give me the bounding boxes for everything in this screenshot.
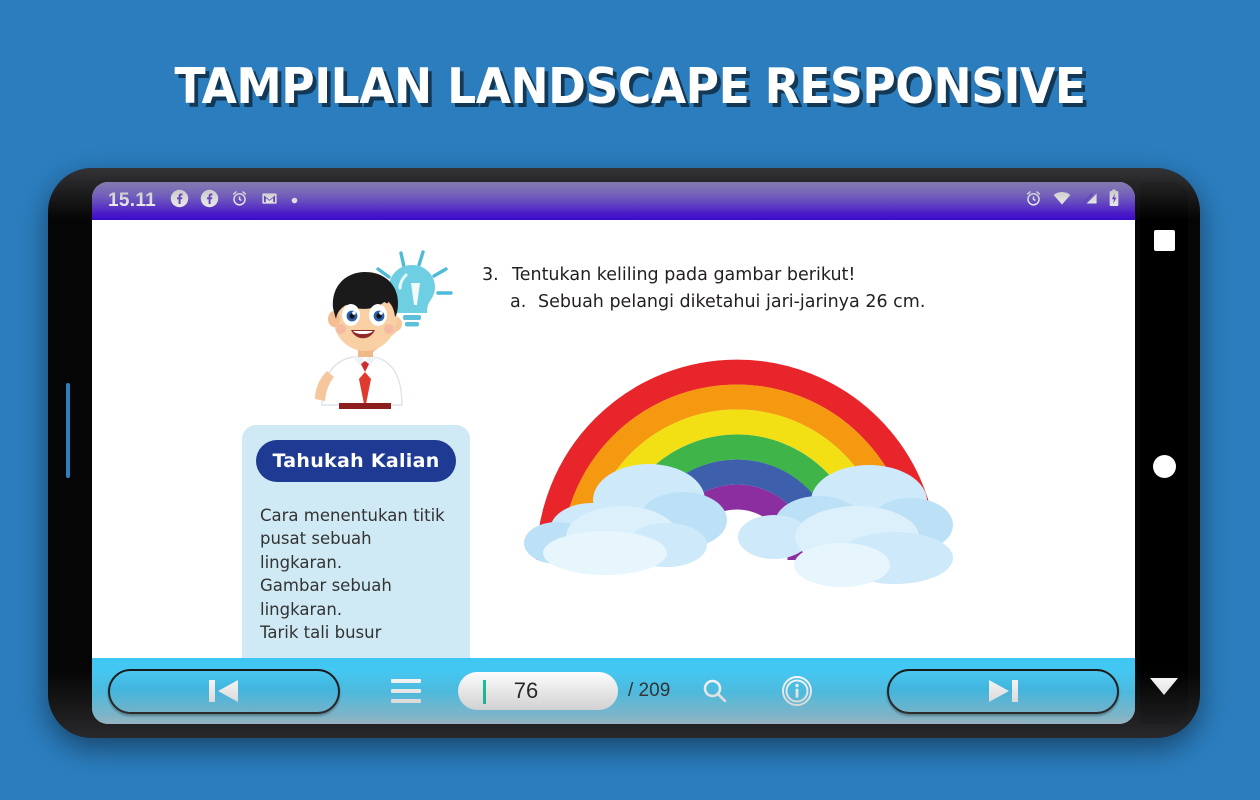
text-caret <box>483 680 486 704</box>
gmail-icon <box>260 189 279 213</box>
facebook-icon <box>170 189 189 213</box>
menu-bar-1 <box>391 679 421 683</box>
signal-icon <box>1081 189 1098 213</box>
question-sub-text: Sebuah pelangi diketahui jari-jarinya 26… <box>538 289 925 316</box>
next-page-button[interactable] <box>887 669 1119 714</box>
phone-device-frame: 15.11 <box>48 168 1200 738</box>
question-text: Tentukan keliling pada gambar berikut! <box>512 262 855 289</box>
next-icon <box>983 675 1023 707</box>
recents-square-icon[interactable] <box>1154 230 1175 251</box>
menu-bar-3 <box>391 699 421 703</box>
search-icon <box>700 676 730 706</box>
home-circle-icon[interactable] <box>1153 455 1176 478</box>
status-notification-icons <box>170 189 299 213</box>
rainbow-with-clouds-illustration <box>497 315 977 605</box>
status-time: 15.11 <box>108 190 156 212</box>
info-box-header: Tahukah Kalian <box>256 440 456 482</box>
dot-icon <box>290 192 299 210</box>
wifi-icon <box>1052 189 1072 213</box>
menu-bar-2 <box>391 689 421 693</box>
question-number: 3. <box>482 262 512 289</box>
previous-page-button[interactable] <box>108 669 340 714</box>
status-bar: 15.11 <box>92 182 1135 220</box>
previous-icon <box>204 675 244 707</box>
menu-button[interactable] <box>384 670 428 712</box>
question-block: 3. Tentukan keliling pada gambar berikut… <box>482 262 925 316</box>
info-box: Tahukah Kalian Cara menentukan titik pus… <box>242 425 470 658</box>
alarm-clock-icon <box>230 189 249 213</box>
status-system-icons <box>1024 189 1121 213</box>
back-triangle-icon[interactable] <box>1150 678 1178 695</box>
search-button[interactable] <box>694 670 736 712</box>
info-icon <box>781 675 813 707</box>
reader-toolbar: / 209 <box>92 658 1135 724</box>
facebook-messenger-icon <box>200 189 219 213</box>
info-box-body: Cara menentukan titik pusat sebuah lingk… <box>242 482 470 645</box>
android-navigation-bar <box>1140 182 1188 724</box>
side-button <box>66 383 70 478</box>
info-button[interactable] <box>776 670 818 712</box>
question-sub-letter: a. <box>510 289 538 316</box>
alarm-clock-icon <box>1024 189 1043 213</box>
page-number-field-wrapper <box>428 672 618 710</box>
page-total-label: / 209 <box>628 680 670 702</box>
boy-with-lightbulb-illustration <box>277 245 457 420</box>
battery-charging-icon <box>1107 189 1121 213</box>
page-title: TAMPILAN LANDSCAPE RESPONSIVE <box>44 58 1216 115</box>
phone-screen: 15.11 <box>92 182 1135 724</box>
page-number-input[interactable] <box>458 672 618 710</box>
book-page-view[interactable]: 3. Tentukan keliling pada gambar berikut… <box>92 220 1135 658</box>
